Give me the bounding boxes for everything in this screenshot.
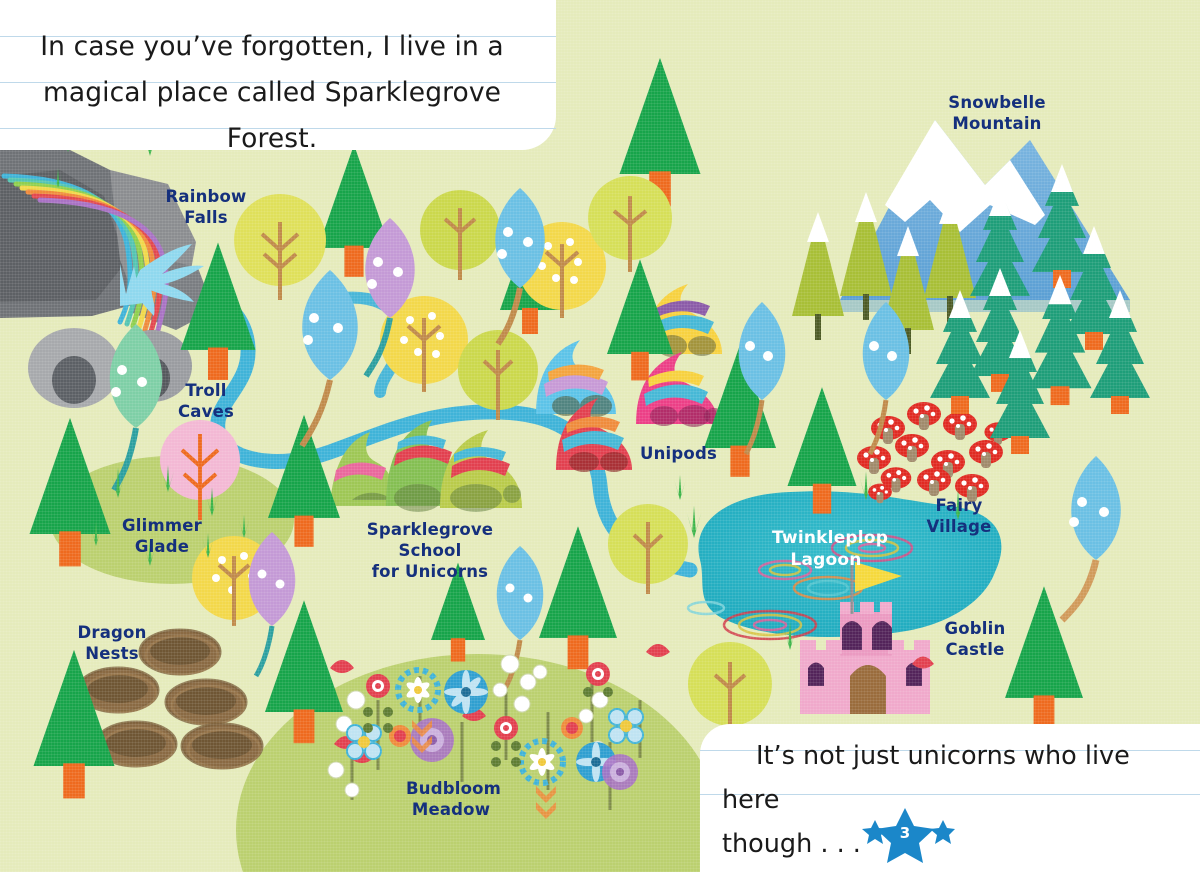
bottom-narration-line1: It’s not just unicorns who live here — [722, 734, 1190, 822]
star-small-right — [930, 820, 955, 844]
label-unipods: Unipods — [640, 443, 710, 464]
label-troll-caves: Troll Caves — [170, 380, 242, 422]
top-narration-panel: In case you’ve forgotten, I live in a ma… — [0, 0, 556, 150]
label-twinkleplop-lagoon: Twinkleplop Lagoon — [772, 527, 880, 571]
label-rainbow-falls: Rainbow Falls — [146, 186, 266, 228]
top-narration-line2: magical place called Sparklegrove Forest… — [0, 70, 544, 162]
label-budbloom-meadow: Budbloom Meadow — [406, 778, 496, 820]
label-sparklegrove-school: Sparklegrove School for Unicorns — [344, 519, 516, 582]
page-number-text: 3 — [900, 824, 910, 842]
label-fairy-village: Fairy Village — [904, 495, 1014, 537]
page-number-badge: 3 — [855, 806, 955, 854]
label-snowbelle-mountain: Snowbelle Mountain — [912, 92, 1082, 134]
storybook-page: Rainbow Falls Snowbelle Mountain Troll C… — [0, 0, 1200, 872]
label-goblin-castle: Goblin Castle — [938, 618, 1012, 660]
bottom-narration-line2: though . . . — [722, 822, 1190, 866]
top-narration-line1: In case you’ve forgotten, I live in a — [0, 24, 544, 70]
label-dragon-nests: Dragon Nests — [70, 622, 154, 664]
label-glimmer-glade: Glimmer Glade — [116, 515, 208, 557]
